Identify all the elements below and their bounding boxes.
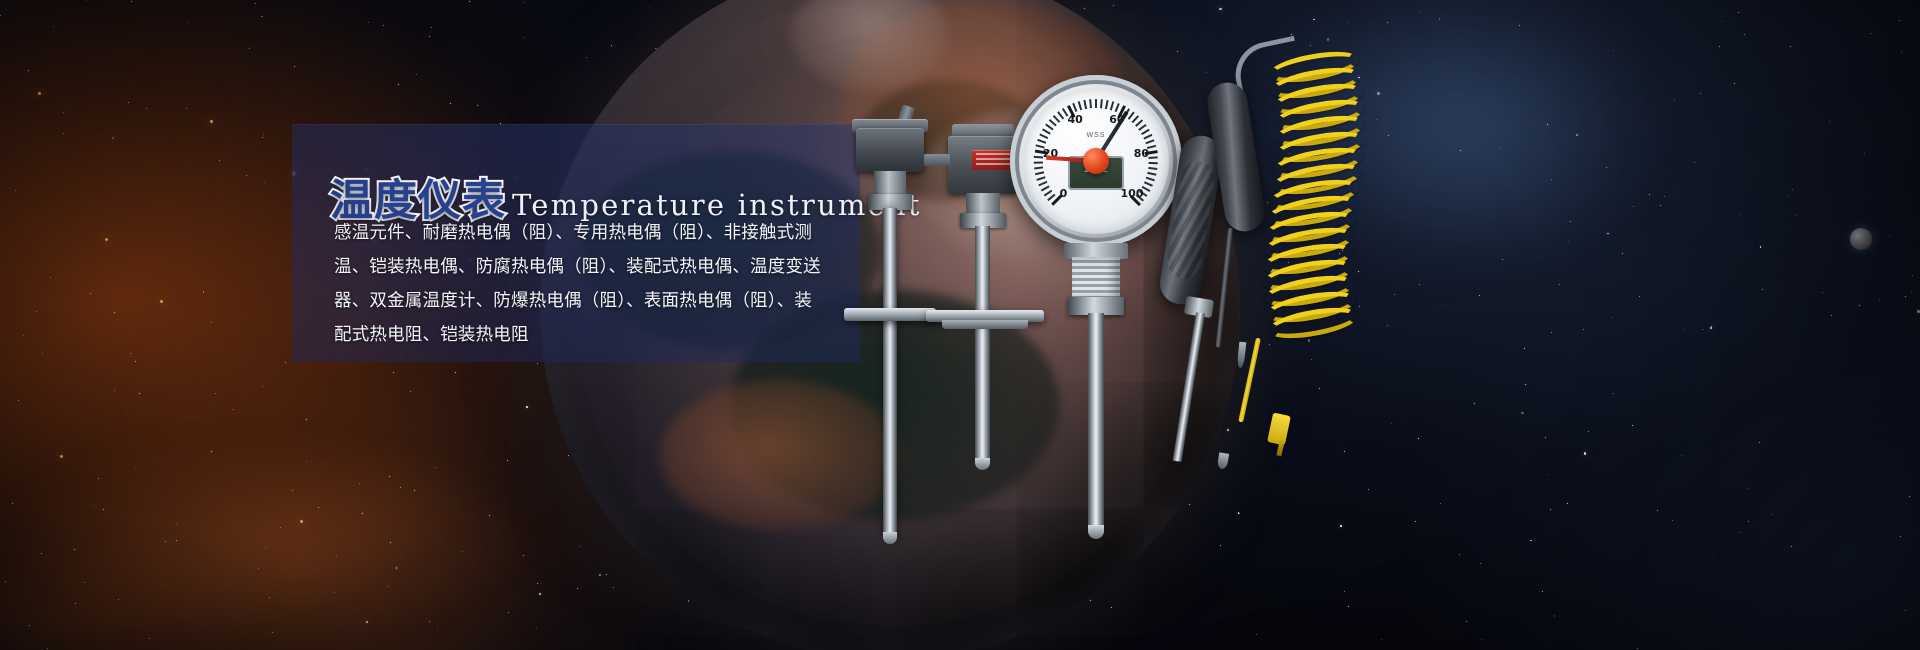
probe-stem [1088,313,1104,531]
threaded-connector [1072,257,1120,301]
probe-tip [1237,342,1247,369]
product-banner: 温度仪表 Temperature instrument 感温元件、耐磨热电偶（阻… [0,0,1920,650]
gauge-adjust-knob [1083,148,1109,174]
conduit-entry [924,154,950,166]
probe-stem [883,208,897,538]
probe-tip [883,532,897,544]
probe-shaft [1215,228,1233,348]
mounting-flange [844,308,936,321]
moon-graphic [1850,228,1872,250]
product-group: WSS 020406080100 100℃ [830,0,1430,650]
description-line: 温、铠装热电偶、防腐热电偶（阻）、装配式热电偶、温度变送 [334,250,846,284]
description-line: 感温元件、耐磨热电偶（阻）、专用热电偶（阻）、非接触式测 [334,216,846,250]
coiled-cable [1268,54,1378,344]
gauge-tick-label: 40 [1067,113,1083,126]
junction-box [856,128,924,172]
product-assembly-thermocouple [840,128,940,538]
probe-stem [975,226,990,464]
description-line: 配式热电阻、铠装热电阻 [334,318,846,352]
probe-tip [1088,525,1104,539]
description-line: 器、双金属温度计、防爆热电偶（阻）、表面热电偶（阻）、装 [334,284,846,318]
probe-handle [1205,80,1268,234]
banner-description: 感温元件、耐磨热电偶（阻）、专用热电偶（阻）、非接触式测 温、铠装热电偶、防腐热… [334,216,846,352]
product-coiled-cable-probe [1198,42,1388,502]
probe-tip [975,458,990,470]
